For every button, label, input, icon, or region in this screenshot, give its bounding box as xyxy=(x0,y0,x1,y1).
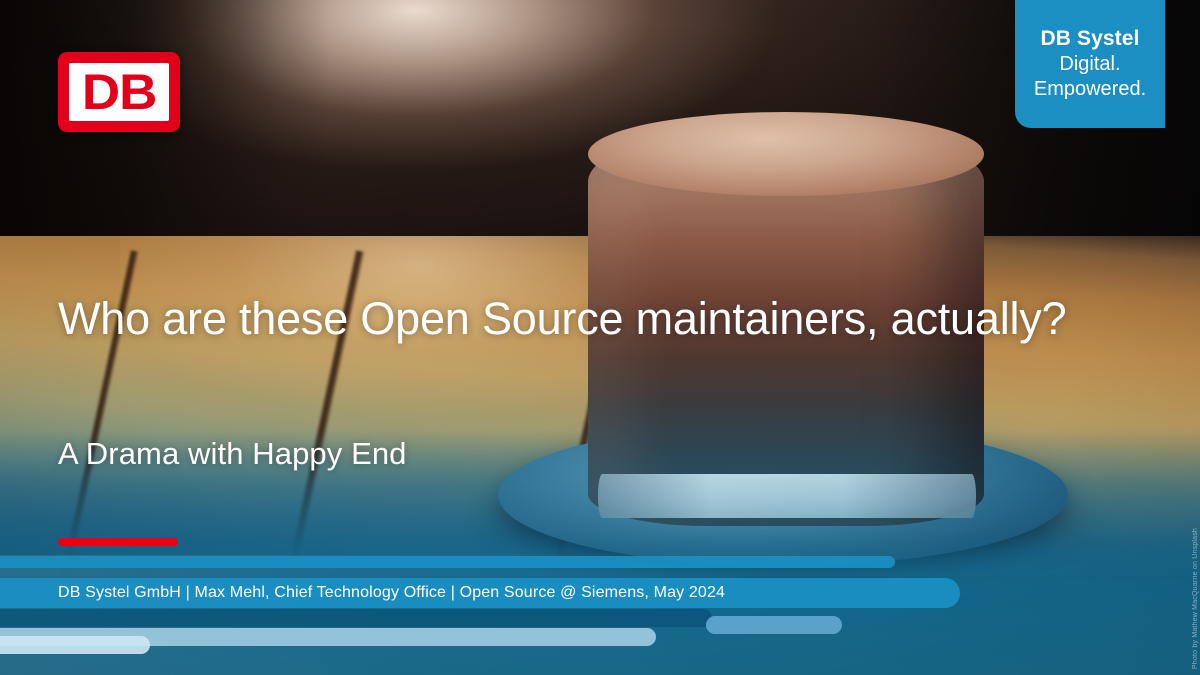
db-logo-inner: DB xyxy=(69,63,169,121)
db-systel-claim-line1: Digital. xyxy=(1015,52,1165,77)
presentation-slide: DB DB Systel Digital. Empowered. Who are… xyxy=(0,0,1200,675)
red-accent-rule xyxy=(58,538,178,546)
db-logo: DB xyxy=(58,52,180,132)
photo-credit-text: Photo by Mathew MacQuarrie on Unsplash xyxy=(1192,528,1199,669)
db-systel-badge: DB Systel Digital. Empowered. xyxy=(1015,0,1165,128)
db-systel-name: DB Systel xyxy=(1015,26,1165,52)
slide-title: Who are these Open Source maintainers, a… xyxy=(58,292,1088,347)
db-logo-text: DB xyxy=(82,67,156,117)
decorative-bar-pale xyxy=(0,636,150,654)
footer-text: DB Systel GmbH | Max Mehl, Chief Technol… xyxy=(58,584,725,602)
db-systel-claim-line2: Empowered. xyxy=(1015,77,1165,102)
decorative-bar-mid xyxy=(706,616,842,634)
slide-subtitle: A Drama with Happy End xyxy=(58,436,407,472)
decorative-bar-top xyxy=(0,556,895,568)
decorative-bar-dark xyxy=(0,609,712,627)
